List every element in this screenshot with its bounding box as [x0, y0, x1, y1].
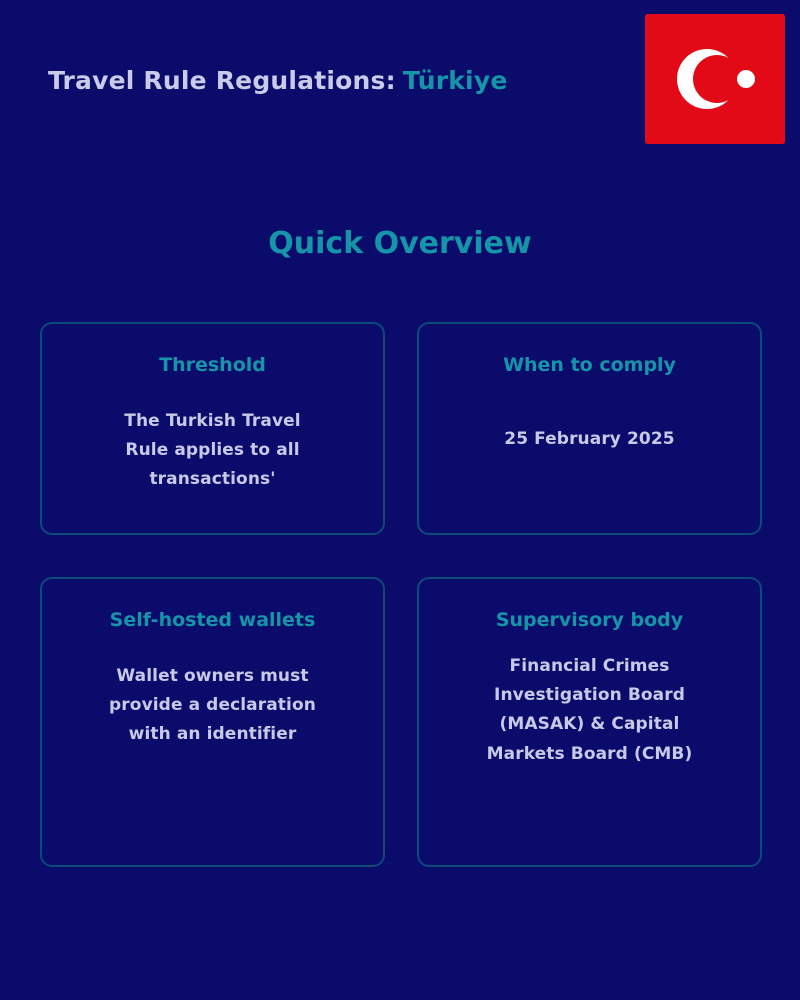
card-self-hosted-wallets-body: Wallet owners must provide a declaration…: [88, 662, 338, 750]
card-threshold-body: The Turkish Travel Rule applies to all t…: [100, 407, 325, 495]
card-self-hosted-wallets-title: Self-hosted wallets: [110, 609, 316, 632]
card-when-to-comply-title: When to comply: [503, 354, 676, 377]
card-self-hosted-wallets: Self-hosted wallets Wallet owners must p…: [40, 577, 385, 867]
card-supervisory-body-title: Supervisory body: [496, 609, 683, 632]
card-supervisory-body: Supervisory body Financial Crimes Invest…: [417, 577, 762, 867]
overview-card-grid: Threshold The Turkish Travel Rule applie…: [40, 322, 762, 867]
page-title-main: Travel Rule Regulations:: [48, 66, 396, 95]
page-header: Travel Rule Regulations:Türkiye: [0, 0, 800, 160]
card-supervisory-body-body: Financial Crimes Investigation Board (MA…: [475, 652, 705, 769]
page-title: Travel Rule Regulations:Türkiye: [48, 68, 507, 93]
card-threshold: Threshold The Turkish Travel Rule applie…: [40, 322, 385, 535]
card-when-to-comply-body: 25 February 2025: [504, 425, 674, 454]
card-threshold-title: Threshold: [159, 354, 266, 377]
page-title-country: Türkiye: [403, 66, 508, 95]
card-when-to-comply: When to comply 25 February 2025: [417, 322, 762, 535]
turkiye-flag-icon: [645, 14, 785, 144]
section-heading: Quick Overview: [0, 226, 800, 262]
